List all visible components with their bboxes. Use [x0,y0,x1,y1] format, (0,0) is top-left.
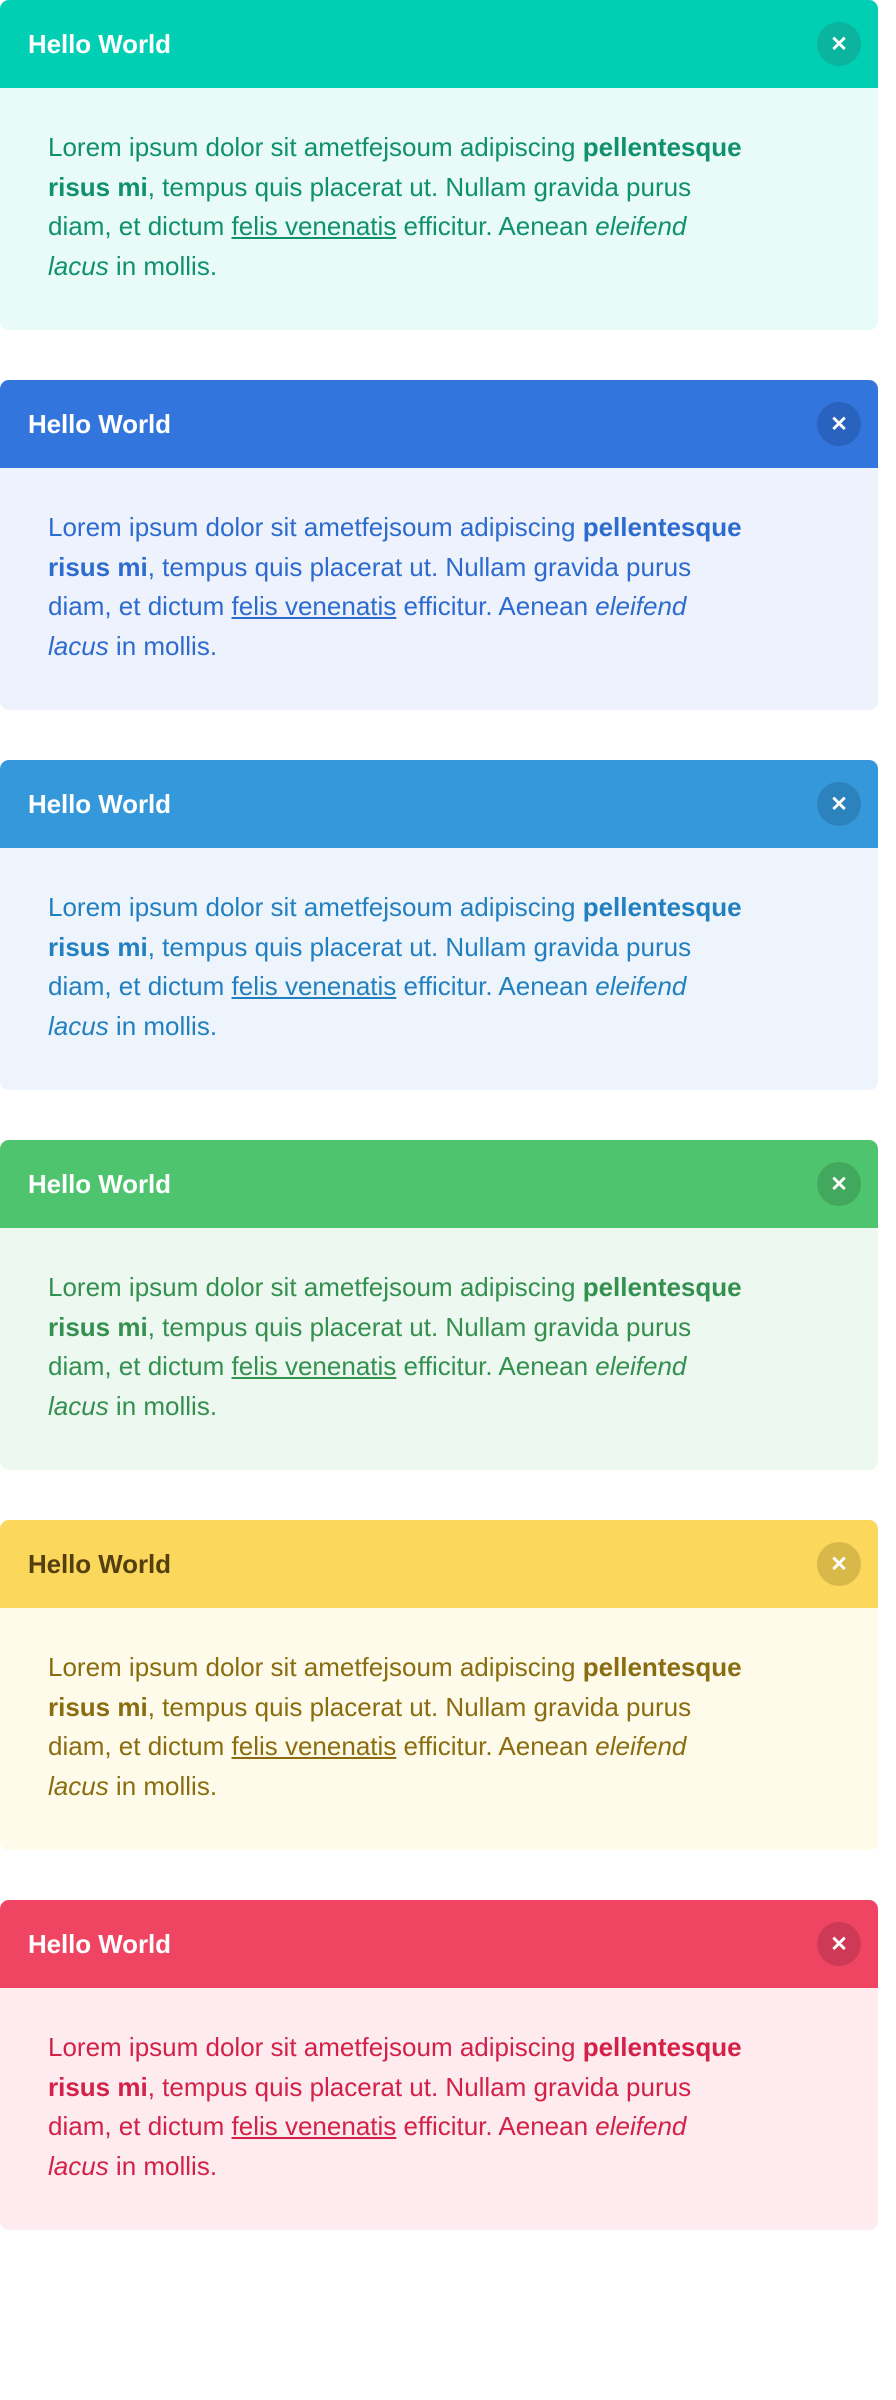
message-text-part-3: efficitur. Aenean [396,1731,595,1761]
message-text-part-4: in mollis. [109,1011,217,1041]
alert-header-blue: Hello World✕ [0,380,878,468]
message-text-part-3: efficitur. Aenean [396,2111,595,2141]
message-text-part-4: in mollis. [109,251,217,281]
message-text-part-1: Lorem ipsum dolor sit ametfejsoum adipis… [48,132,583,162]
message-link[interactable]: felis venenatis [232,591,397,621]
alert-card-teal: Hello World✕Lorem ipsum dolor sit ametfe… [0,0,878,330]
alert-body-yellow: Lorem ipsum dolor sit ametfejsoum adipis… [0,1608,878,1850]
alert-card-green: Hello World✕Lorem ipsum dolor sit ametfe… [0,1140,878,1470]
alert-message: Lorem ipsum dolor sit ametfejsoum adipis… [48,128,748,286]
message-link[interactable]: felis venenatis [232,1351,397,1381]
message-text-part-1: Lorem ipsum dolor sit ametfejsoum adipis… [48,2032,583,2062]
message-text-part-1: Lorem ipsum dolor sit ametfejsoum adipis… [48,512,583,542]
message-text-part-4: in mollis. [109,1771,217,1801]
close-button[interactable]: ✕ [817,1542,861,1586]
alert-title: Hello World [28,1551,171,1577]
message-text-part-1: Lorem ipsum dolor sit ametfejsoum adipis… [48,892,583,922]
close-icon: ✕ [830,1554,848,1575]
alert-header-teal: Hello World✕ [0,0,878,88]
alert-title: Hello World [28,31,171,57]
close-button[interactable]: ✕ [817,1162,861,1206]
message-text-part-3: efficitur. Aenean [396,971,595,1001]
message-text-part-3: efficitur. Aenean [396,591,595,621]
close-button[interactable]: ✕ [817,1922,861,1966]
message-text-part-4: in mollis. [109,2151,217,2181]
close-button[interactable]: ✕ [817,402,861,446]
message-link[interactable]: felis venenatis [232,1731,397,1761]
message-text-part-4: in mollis. [109,631,217,661]
alert-header-yellow: Hello World✕ [0,1520,878,1608]
alert-message: Lorem ipsum dolor sit ametfejsoum adipis… [48,508,748,666]
alert-card-yellow: Hello World✕Lorem ipsum dolor sit ametfe… [0,1520,878,1850]
alert-title: Hello World [28,411,171,437]
alert-body-green: Lorem ipsum dolor sit ametfejsoum adipis… [0,1228,878,1470]
message-text-part-3: efficitur. Aenean [396,211,595,241]
message-link[interactable]: felis venenatis [232,971,397,1001]
close-icon: ✕ [830,414,848,435]
message-link[interactable]: felis venenatis [232,2111,397,2141]
close-button[interactable]: ✕ [817,782,861,826]
message-text-part-3: efficitur. Aenean [396,1351,595,1381]
alert-message: Lorem ipsum dolor sit ametfejsoum adipis… [48,2028,748,2186]
close-icon: ✕ [830,34,848,55]
alert-header-red: Hello World✕ [0,1900,878,1988]
alert-header-green: Hello World✕ [0,1140,878,1228]
alert-stack: Hello World✕Lorem ipsum dolor sit ametfe… [0,0,896,2230]
close-icon: ✕ [830,1174,848,1195]
close-icon: ✕ [830,1934,848,1955]
alert-body-teal: Lorem ipsum dolor sit ametfejsoum adipis… [0,88,878,330]
alert-message: Lorem ipsum dolor sit ametfejsoum adipis… [48,1648,748,1806]
message-text-part-1: Lorem ipsum dolor sit ametfejsoum adipis… [48,1652,583,1682]
close-button[interactable]: ✕ [817,22,861,66]
alert-card-red: Hello World✕Lorem ipsum dolor sit ametfe… [0,1900,878,2230]
alert-title: Hello World [28,1931,171,1957]
alert-card-lightblue: Hello World✕Lorem ipsum dolor sit ametfe… [0,760,878,1090]
alert-body-blue: Lorem ipsum dolor sit ametfejsoum adipis… [0,468,878,710]
alert-body-lightblue: Lorem ipsum dolor sit ametfejsoum adipis… [0,848,878,1090]
message-link[interactable]: felis venenatis [232,211,397,241]
alert-body-red: Lorem ipsum dolor sit ametfejsoum adipis… [0,1988,878,2230]
alert-card-blue: Hello World✕Lorem ipsum dolor sit ametfe… [0,380,878,710]
alert-message: Lorem ipsum dolor sit ametfejsoum adipis… [48,888,748,1046]
alert-header-lightblue: Hello World✕ [0,760,878,848]
message-text-part-1: Lorem ipsum dolor sit ametfejsoum adipis… [48,1272,583,1302]
alert-title: Hello World [28,1171,171,1197]
alert-title: Hello World [28,791,171,817]
close-icon: ✕ [830,794,848,815]
message-text-part-4: in mollis. [109,1391,217,1421]
alert-message: Lorem ipsum dolor sit ametfejsoum adipis… [48,1268,748,1426]
